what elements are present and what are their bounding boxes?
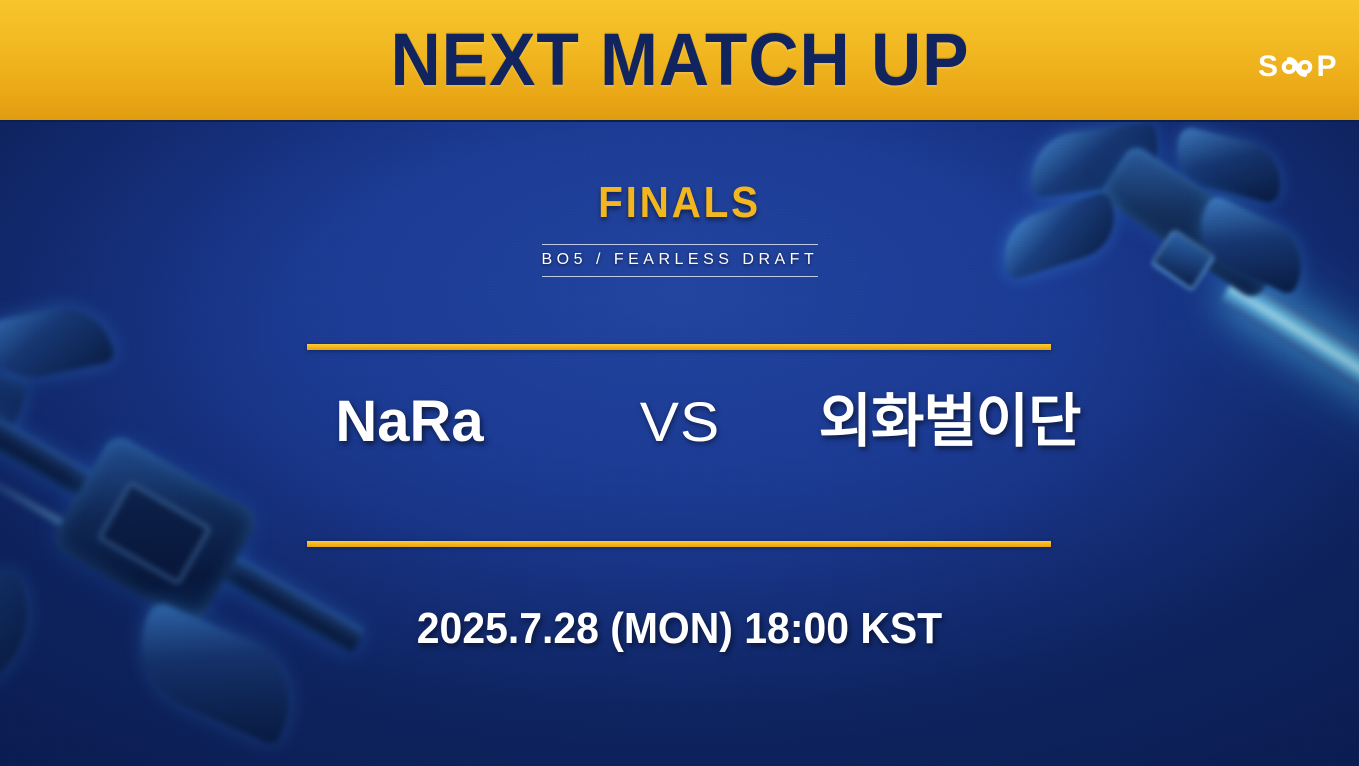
divider-top — [307, 344, 1051, 350]
versus-label: VS — [617, 394, 743, 450]
team-right-name: 외화벌이단 — [740, 393, 1160, 451]
stage-label: FINALS — [54, 181, 1304, 225]
match-details: FINALS BO5 / FEARLESS DRAFT NaRa VS 외화벌이… — [0, 122, 1359, 766]
infinity-icon — [1280, 55, 1314, 79]
format-badge: BO5 / FEARLESS DRAFT — [542, 244, 818, 277]
logo-prefix-letter: S — [1258, 52, 1279, 82]
format-label: BO5 / FEARLESS DRAFT — [542, 252, 818, 268]
divider-bottom — [307, 541, 1051, 547]
header-banner: NEXT MATCH UP S P — [0, 0, 1359, 122]
matchup-row: NaRa VS 외화벌이단 — [0, 393, 1359, 451]
page-title: NEXT MATCH UP — [390, 23, 969, 97]
match-announcement-graphic: NEXT MATCH UP S P FINALS BO5 / FEARLESS … — [0, 0, 1359, 766]
logo-suffix-letter: P — [1316, 52, 1337, 82]
match-datetime: 2025.7.28 (MON) 18:00 KST — [48, 607, 1312, 651]
soop-logo: S P — [1258, 50, 1337, 84]
team-left-name: NaRa — [200, 393, 620, 451]
